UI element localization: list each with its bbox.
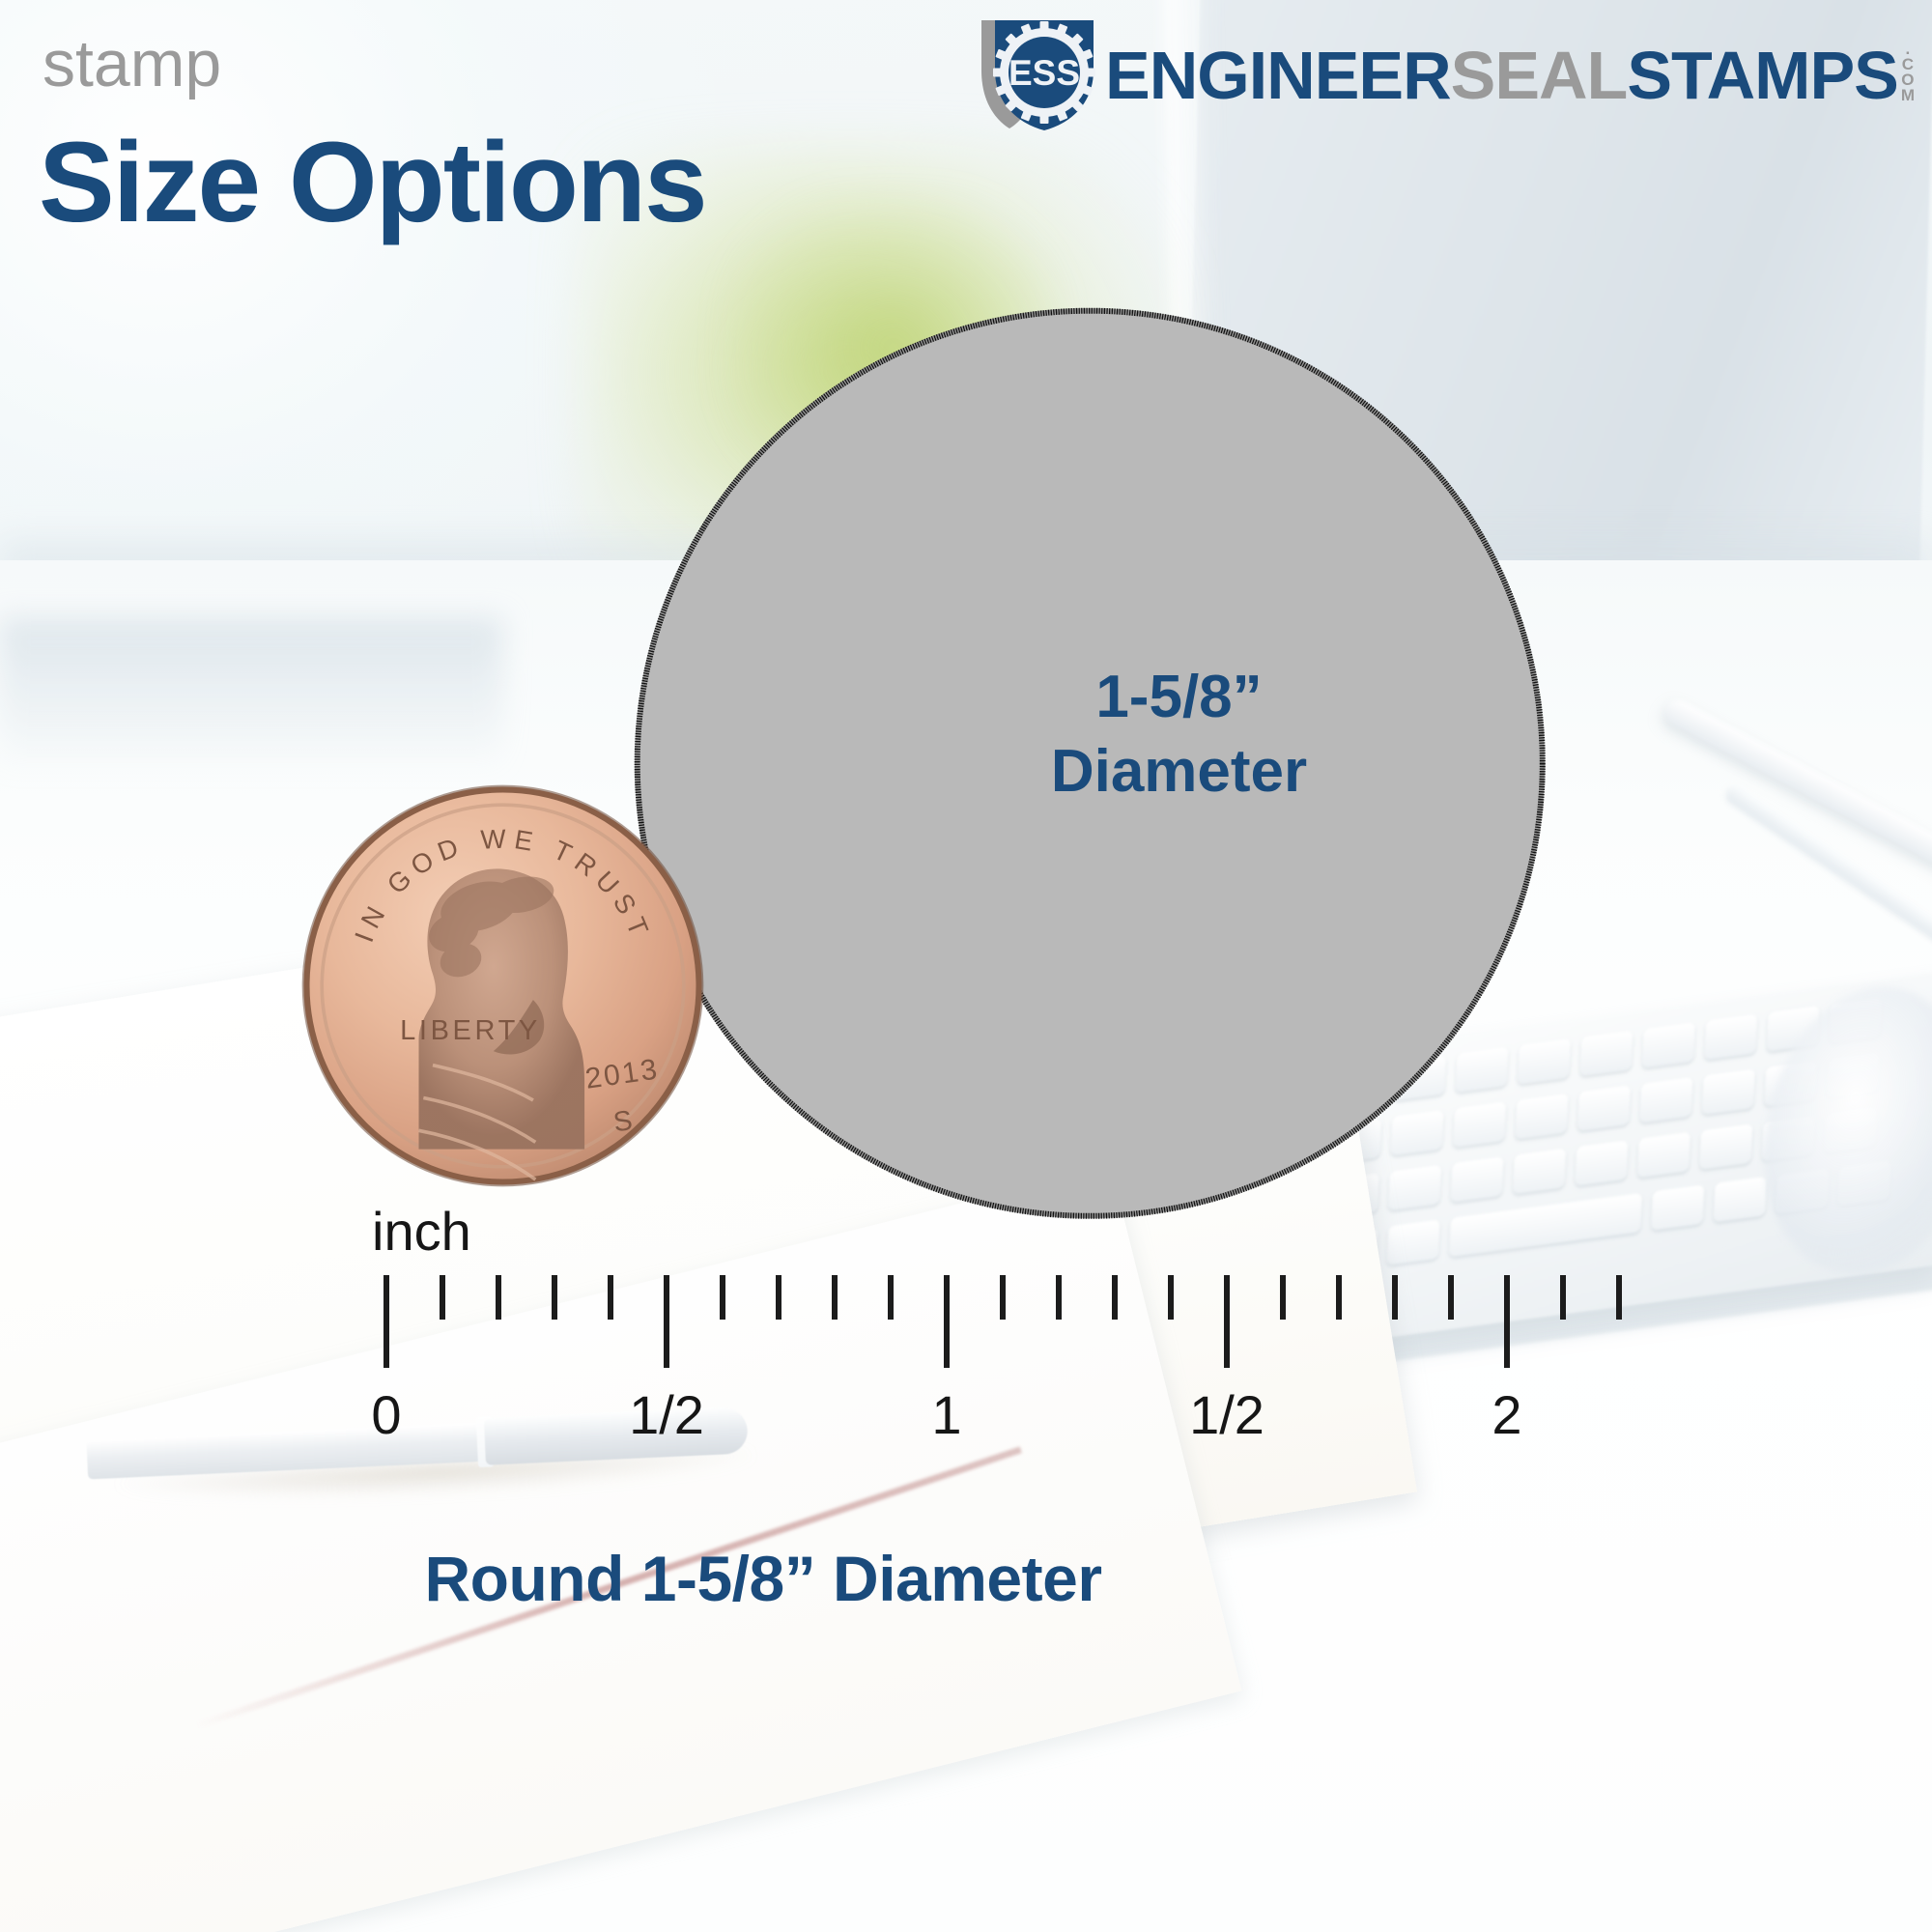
logo-wordmark: ENGINEER SEAL STAMPS . C O M <box>1105 42 1915 110</box>
stamp-size-circle: 1-5/8” Diameter <box>635 308 1546 1219</box>
logo-word-dotcom: . C O M <box>1901 42 1915 104</box>
brand-word-stamp: stamp <box>43 31 221 97</box>
penny-coin: IN GOD WE TRUST LIBERTY 2013 <box>293 776 713 1196</box>
size-circle-line1: 1-5/8” <box>1095 664 1262 730</box>
coin-liberty-text: LIBERTY <box>400 1015 541 1046</box>
logo-word-seal: SEAL <box>1451 42 1628 109</box>
engineer-seal-stamps-logo[interactable]: ESS ENGINEER SEAL STAMPS . C O M <box>976 15 1915 135</box>
desk-haze <box>0 618 502 773</box>
size-options-graphic: stamp Size Options <box>0 0 1932 1932</box>
logo-word-engineer: ENGINEER <box>1105 42 1451 109</box>
size-caption: Round 1-5/8” Diameter <box>0 1542 1526 1615</box>
size-circle-label: 1-5/8” Diameter <box>1051 660 1307 810</box>
size-circle-line2: Diameter <box>1051 734 1307 810</box>
logo-word-stamps: STAMPS <box>1627 42 1898 109</box>
page-title: Size Options <box>39 124 706 243</box>
ess-shield-text: ESS <box>1009 53 1080 93</box>
dotcom-char-m: M <box>1901 88 1915 103</box>
ess-shield-icon: ESS <box>976 16 1099 134</box>
